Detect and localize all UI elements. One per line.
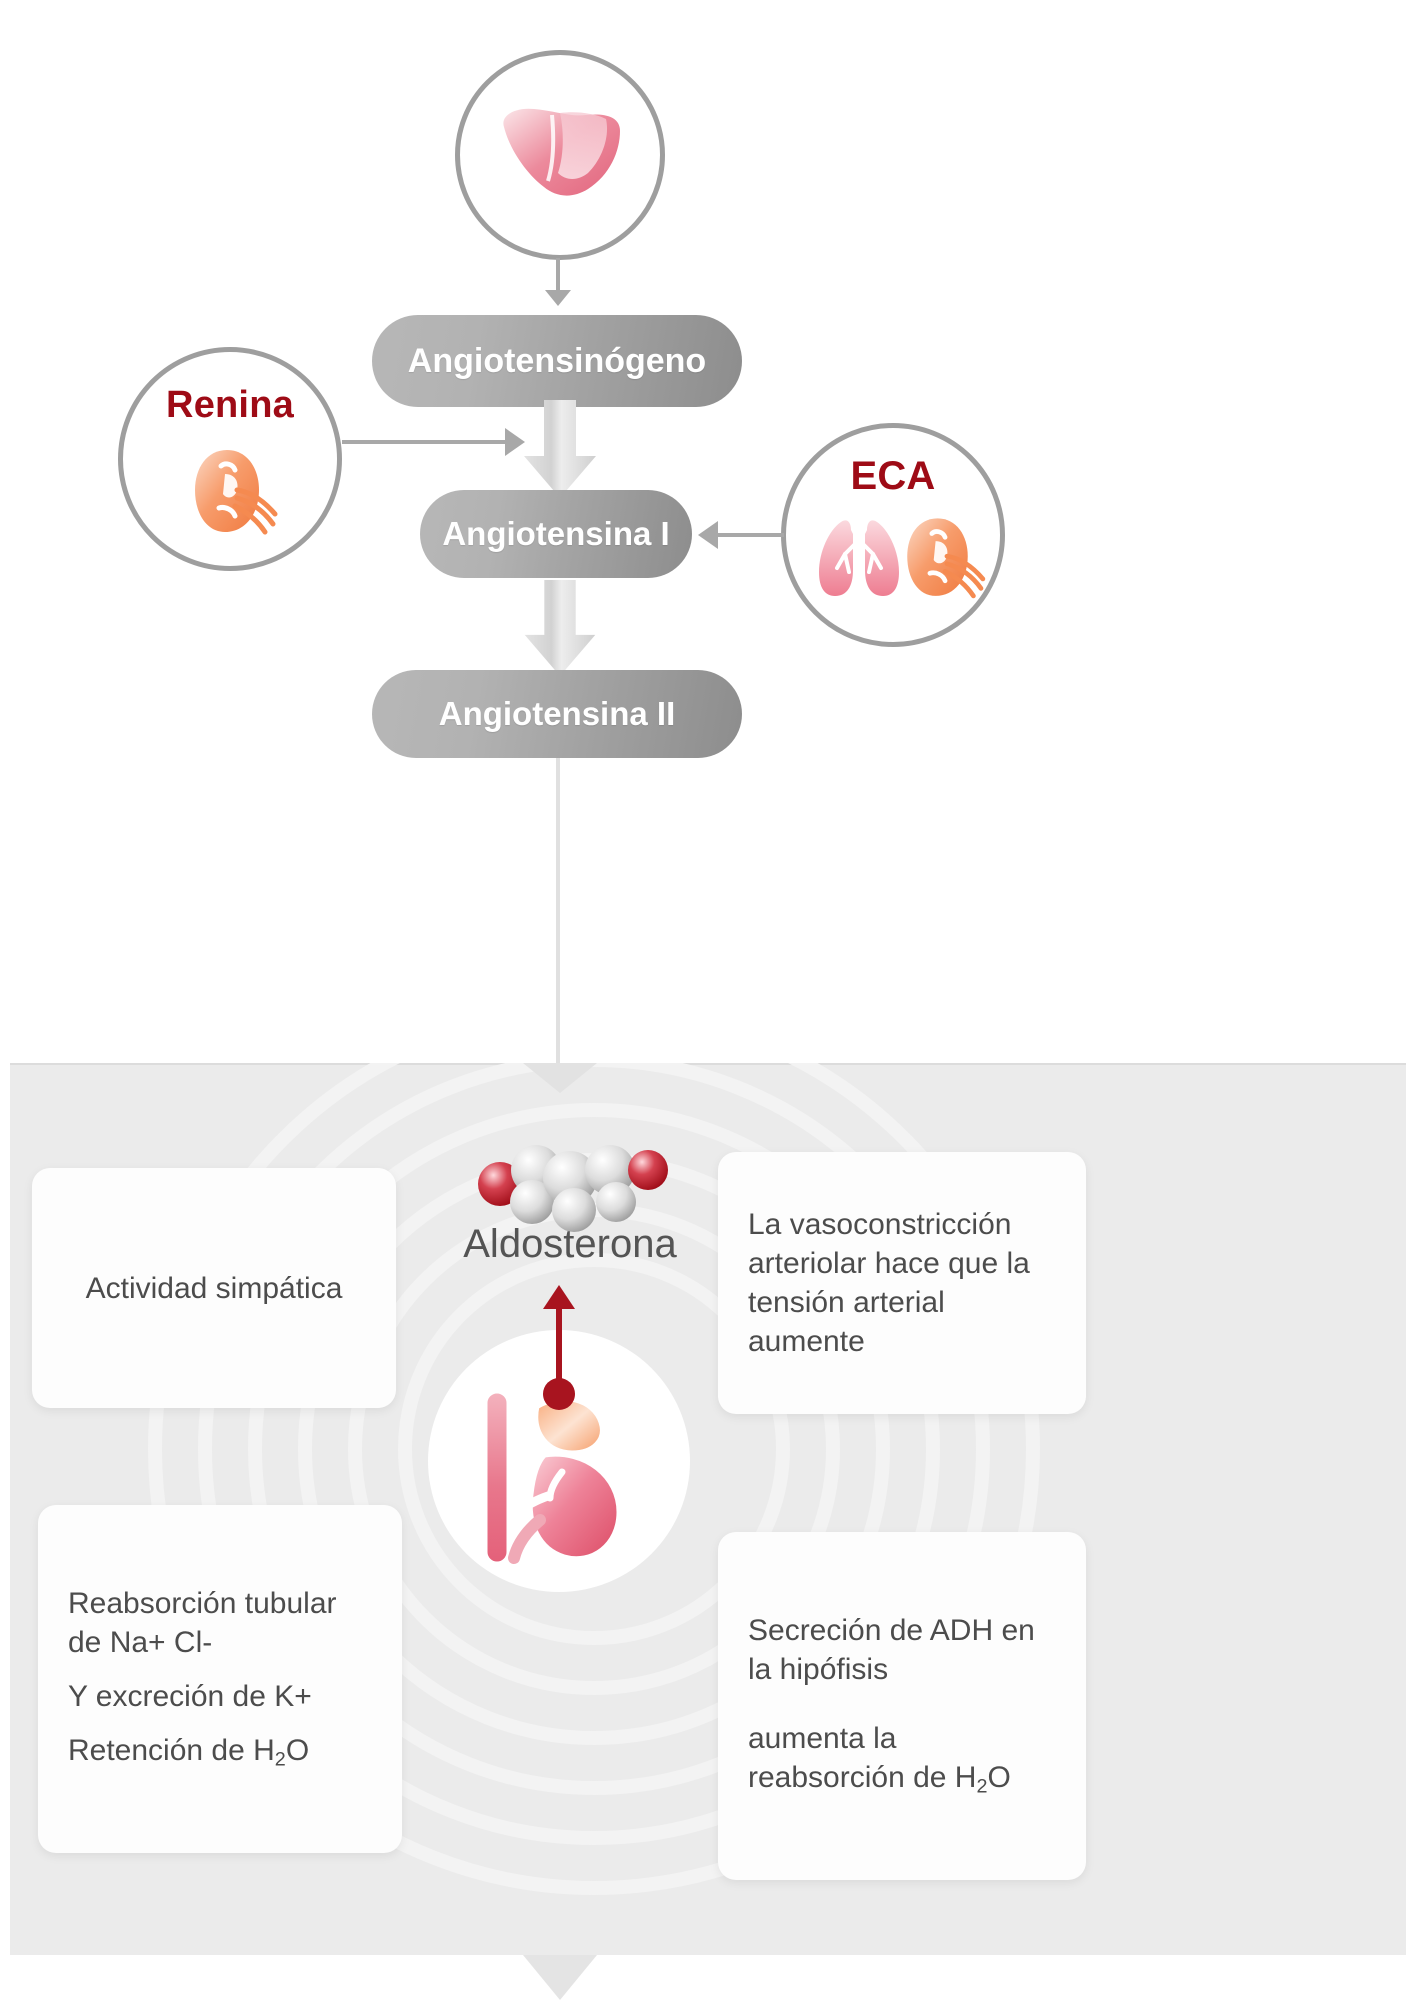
card-sympathetic[interactable]: Actividad simpática xyxy=(32,1168,396,1408)
card-adh-secretion[interactable]: Secreción de ADH en la hipófisis aumenta… xyxy=(718,1532,1086,1880)
card-adh-line-2-sub: 2 xyxy=(976,1776,987,1798)
ace-arrow-line xyxy=(718,533,784,537)
renin-arrow-line xyxy=(342,440,518,444)
card-tubular-line-2: Y excreción de K+ xyxy=(68,1677,372,1716)
renin-arrowhead xyxy=(505,428,525,456)
lungs-icon xyxy=(811,514,907,606)
aldosterone-origin-dot xyxy=(543,1378,575,1410)
liver-to-angiotensinogen-arrowhead xyxy=(545,290,571,306)
node-angiotensina-ii[interactable]: Angiotensina II xyxy=(372,670,742,758)
card-tubular-line-3-prefix: Retención de H xyxy=(68,1734,275,1767)
fat-arrow-1 xyxy=(520,400,600,500)
ace-label-wrap: ECA xyxy=(786,454,1000,499)
card-adh-line-2-prefix: aumenta la reabsorción de H xyxy=(748,1722,976,1794)
card-sympathetic-line-1: Actividad simpática xyxy=(86,1269,343,1308)
renin-node[interactable]: Renina xyxy=(118,347,342,571)
node-angiotensina-i[interactable]: Angiotensina I xyxy=(420,490,692,578)
ace-node[interactable]: ECA xyxy=(781,423,1005,647)
card-tubular-reabsorption[interactable]: Reabsorción tubular de Na+ Cl- Y excreci… xyxy=(38,1505,402,1853)
card-tubular-line-1: Reabsorción tubular de Na+ Cl- xyxy=(68,1584,372,1662)
node-angiotensinogeno[interactable]: Angiotensinógeno xyxy=(372,315,742,407)
aldosterone-label: Aldosterona xyxy=(420,1222,720,1267)
panel-bottom-chevron xyxy=(523,1955,597,2000)
node-angiotensinogeno-label: Angiotensinógeno xyxy=(408,342,706,381)
kidney-icon xyxy=(181,444,291,544)
up-arrow-icon xyxy=(543,1285,575,1309)
card-vasoconstriction-line-1: La vasoconstricción arteriolar hace que … xyxy=(748,1205,1056,1361)
liver-icon xyxy=(460,55,660,255)
card-vasoconstriction[interactable]: La vasoconstricción arteriolar hace que … xyxy=(718,1152,1086,1414)
card-adh-line-2-suffix: O xyxy=(987,1761,1010,1794)
card-adh-line-2: aumenta la reabsorción de H2O xyxy=(748,1719,1056,1800)
liver-node[interactable] xyxy=(455,50,665,260)
kidney-icon xyxy=(894,512,998,608)
node-angiotensina-i-label: Angiotensina I xyxy=(442,515,669,553)
fat-arrow-2 xyxy=(520,580,600,678)
ace-label: ECA xyxy=(850,454,935,498)
card-tubular-line-3-sub: 2 xyxy=(275,1749,286,1771)
ace-arrowhead xyxy=(698,521,718,549)
node-angiotensina-ii-label: Angiotensina II xyxy=(439,695,676,733)
diagram-canvas: Angiotensinógeno Renina xyxy=(0,0,1416,2000)
card-tubular-line-3: Retención de H2O xyxy=(68,1731,372,1773)
card-adh-line-1: Secreción de ADH en la hipófisis xyxy=(748,1611,1056,1689)
renin-label-wrap: Renina xyxy=(123,384,337,427)
angiotensina-ii-to-panel-line xyxy=(556,758,560,1063)
renin-label: Renina xyxy=(166,384,294,426)
card-tubular-line-3-suffix: O xyxy=(286,1734,309,1767)
panel-top-notch xyxy=(523,1063,597,1093)
